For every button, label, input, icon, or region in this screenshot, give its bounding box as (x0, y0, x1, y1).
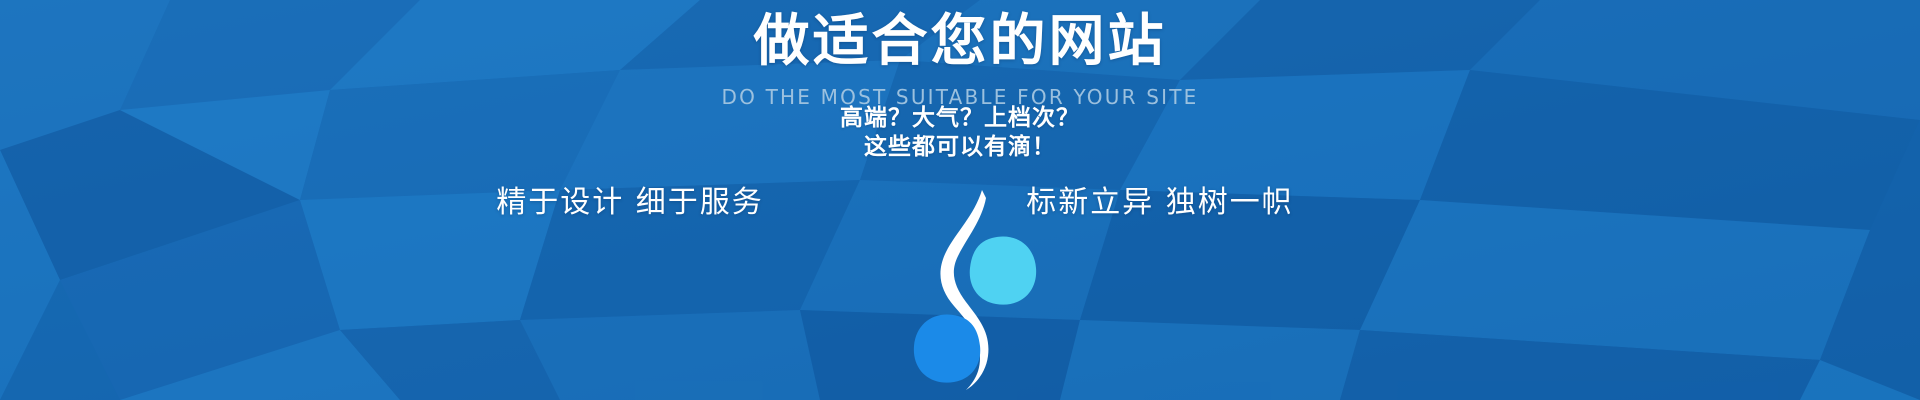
leaf-sprout-logo (910, 172, 1040, 400)
question-line-2: 这些都可以有滴！ (0, 133, 1920, 162)
hero-banner: 做适合您的网站 DO THE MOST SUITABLE FOR YOUR SI… (0, 0, 1920, 400)
banner-question-block: 高端？大气？上档次？ 这些都可以有滴！ (0, 104, 1920, 162)
logo-leaf-upper (970, 236, 1036, 304)
banner-headline: 做适合您的网站 (0, 10, 1920, 74)
question-line-1: 高端？大气？上档次？ (0, 104, 1920, 133)
slogan-right: 标新立异 独树一帜 (1000, 183, 1320, 223)
logo-leaf-lower (914, 314, 980, 382)
slogan-left: 精于设计 细于服务 (470, 183, 790, 223)
